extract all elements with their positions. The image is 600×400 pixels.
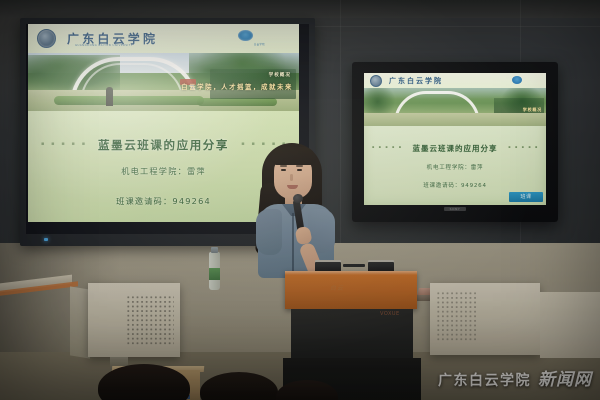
- university-seal-icon: [37, 29, 56, 48]
- photo-statue: [106, 87, 113, 106]
- podium-top-highlight: [285, 271, 417, 275]
- photo-banner-small-text: 学校概况: [269, 72, 291, 78]
- podium-brand-text: VOXUE: [380, 311, 400, 317]
- presenter-fringe: [271, 147, 316, 165]
- tv-corner-tag: 班课: [509, 192, 543, 202]
- photo-banner-large-text: 白云学院，人才摇篮，成就未来: [181, 82, 293, 91]
- tv-brand-label: SONY: [444, 207, 466, 211]
- slide-campus-photo: 学校概况 白云学院，人才摇篮，成就未来: [28, 53, 299, 111]
- water-bottle-label: [209, 268, 220, 280]
- tv-slide-invite-code-line: 班课邀请码：949264: [364, 181, 546, 189]
- presenter-placket: [292, 213, 294, 275]
- tv-screen: 广东白云学院 学校概况 ▪ ▪ ▪ ▪ ▪ ▪ ▪ ▪ ▪ ▪ 蓝墨云班课的应用…: [364, 73, 546, 205]
- photo-hedge: [197, 98, 277, 106]
- secondary-logo-icon: [238, 30, 253, 41]
- water-bottle-cap: [211, 247, 218, 253]
- speaker-grill-icon: [126, 295, 174, 345]
- slide-university-name-en: GUANGDONG BAIYUN UNIVERSITY: [75, 44, 133, 47]
- university-seal-icon: [370, 75, 382, 87]
- presenter-eyebrow: [296, 165, 303, 167]
- slide-header: 广东白云学院: [28, 24, 299, 53]
- photo-canvas: 广东白云学院 GUANGDONG BAIYUN UNIVERSITY 白云学院 …: [0, 0, 600, 400]
- watermark-main-text: 广东白云学院: [438, 370, 531, 390]
- ceiling-band: [0, 0, 600, 18]
- speaker-left-side: [70, 286, 90, 358]
- tv-slide-campus-photo: 学校概况: [364, 88, 546, 126]
- tv-photo-plaza: [364, 113, 546, 126]
- photo-hedge: [54, 96, 204, 105]
- podium-logo-text: 白云: [330, 283, 344, 292]
- watermark-sub-text: 新闻网: [538, 365, 592, 390]
- tv-slide-presenter-line: 机电工程学院：雷萍: [364, 163, 546, 171]
- secondary-logo-label: 白云学院: [254, 42, 265, 46]
- tv-secondary-logo-icon: [512, 76, 522, 84]
- speaker-grill-icon: [436, 291, 478, 341]
- presenter-sleeve-left: [256, 209, 282, 255]
- presenter-eyebrow: [280, 165, 287, 167]
- watermark: 广东白云学院 新闻网: [438, 365, 592, 390]
- tv-slide-title: 蓝墨云班课的应用分享: [364, 143, 546, 154]
- right-wall-cabinet: [540, 292, 600, 358]
- presenter: [238, 143, 358, 278]
- presenter-nose: [290, 174, 293, 181]
- wall-seam: [300, 26, 600, 27]
- podium-top: [285, 271, 417, 309]
- tv-slide-university-name: 广东白云学院: [389, 76, 443, 86]
- screen-power-led-icon: [44, 238, 48, 241]
- podium-center-bar: [343, 264, 365, 267]
